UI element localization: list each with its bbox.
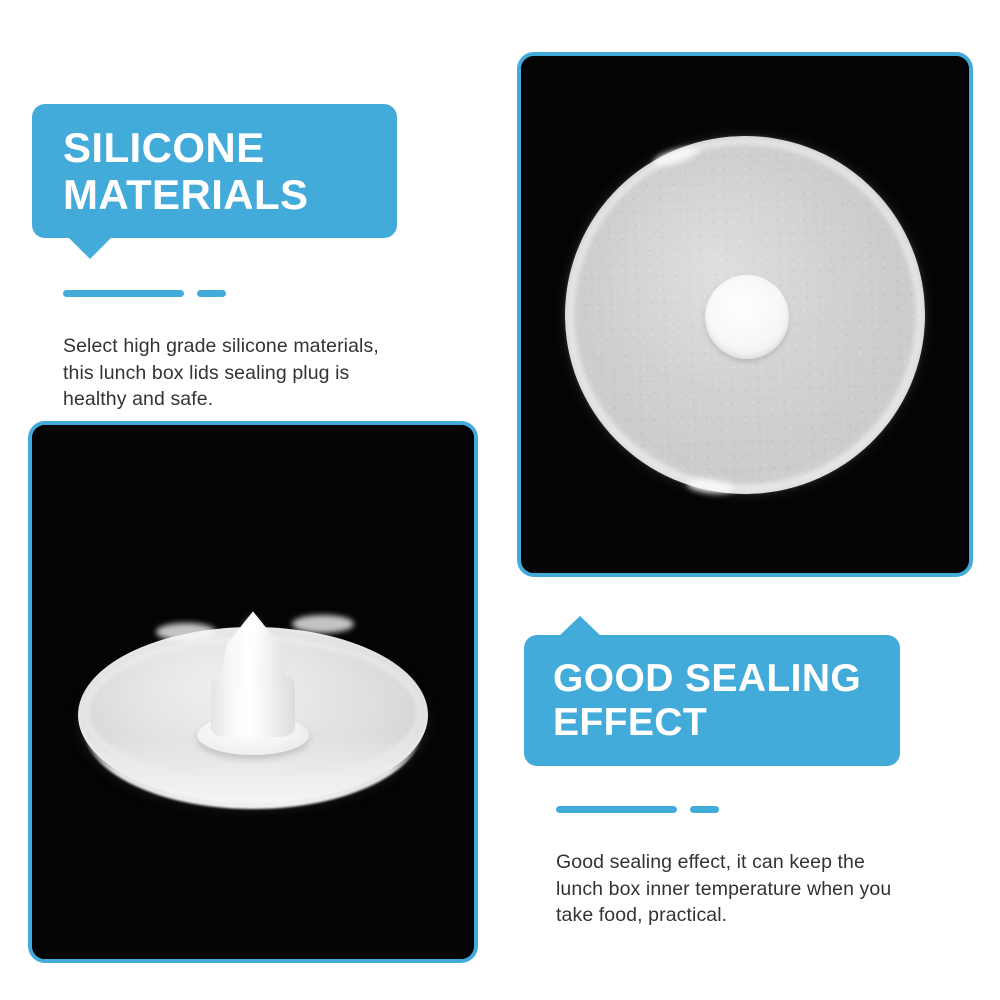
feature-title-line-1: GOOD SEALING (553, 657, 861, 701)
feature-banner-good-sealing-effect: GOOD SEALING EFFECT (524, 635, 900, 766)
product-infographic: SILICONE MATERIALS Select high grade sil… (0, 0, 1000, 1000)
feature-title-line-2: MATERIALS (63, 171, 308, 218)
divider-dash-short (690, 806, 719, 813)
feature-description-silicone-materials: Select high grade silicone materials, th… (63, 333, 411, 413)
feature-banner-silicone-materials: SILICONE MATERIALS (32, 104, 397, 238)
divider-dash-long (556, 806, 677, 813)
disc-rim-bump-right (292, 615, 354, 633)
product-photo-top-view (521, 56, 969, 573)
feature-title-silicone-materials: SILICONE MATERIALS (63, 124, 308, 218)
disc-rim-bump-left (156, 623, 216, 641)
feature-title-line-1: SILICONE (63, 124, 308, 171)
feature-title-line-2: EFFECT (553, 701, 861, 745)
feature-title-good-sealing-effect: GOOD SEALING EFFECT (553, 657, 861, 744)
silicone-plug-angled-shape (78, 603, 428, 823)
center-plug-top-shape (705, 275, 789, 359)
center-plug-highlight (242, 619, 262, 675)
product-photo-angled-view (32, 425, 474, 959)
product-photo-top-view-panel (517, 52, 973, 577)
divider-dash-short (197, 290, 226, 297)
product-photo-angled-view-panel (28, 421, 478, 963)
banner-tail-up-icon (559, 616, 601, 636)
feature-description-good-sealing-effect: Good sealing effect, it can keep the lun… (556, 849, 908, 929)
banner-tail-down-icon (69, 238, 111, 259)
divider-dash-long (63, 290, 184, 297)
